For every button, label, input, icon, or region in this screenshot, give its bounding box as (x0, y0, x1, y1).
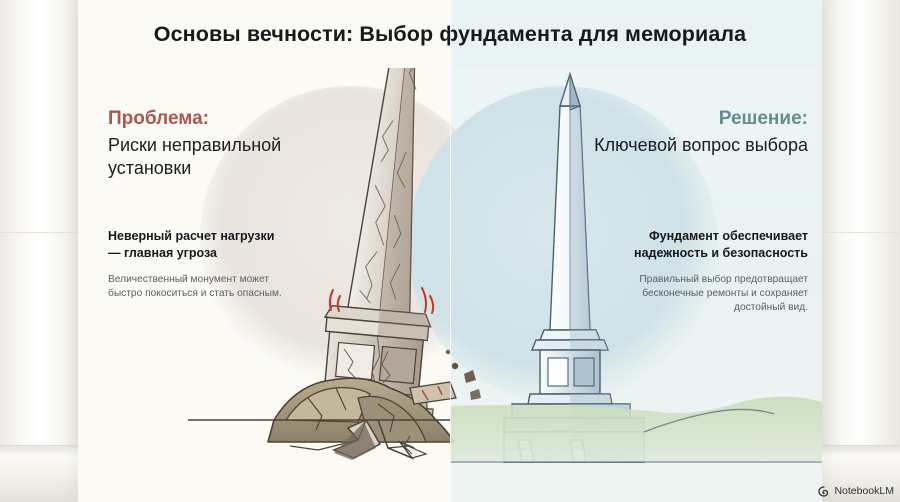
notebooklm-spiral-icon (818, 486, 830, 497)
right-kicker-solution: Решение: (560, 108, 808, 131)
left-kicker-problem: Проблема: (108, 108, 340, 131)
left-detail-body: Величественный монумент может быстро пок… (108, 273, 288, 301)
right-detail-body: Правильный выбор предотвращает бесконечн… (608, 273, 808, 315)
backdrop-right-seam (818, 232, 900, 233)
notebooklm-watermark: NotebookLM (818, 485, 894, 497)
watermark-label: NotebookLM (834, 485, 894, 497)
backdrop-right-column (818, 0, 900, 502)
left-heading-block: Проблема: Риски неправильной установки (108, 108, 340, 180)
left-detail-block: Неверный расчет нагрузки — главная угроз… (108, 228, 288, 301)
backdrop-left-seam (0, 232, 86, 233)
right-detail-title: Фундамент обеспечивает надежность и безо… (608, 228, 808, 261)
panel-divider (450, 0, 451, 502)
backdrop-left-plinth (0, 445, 86, 502)
left-headline: Риски неправильной установки (108, 134, 340, 180)
infographic-card: Основы вечности: Выбор фундамента для ме… (78, 0, 822, 502)
right-headline: Ключевой вопрос выбора (560, 134, 808, 157)
left-detail-title: Неверный расчет нагрузки — главная угроз… (108, 228, 288, 261)
backdrop-left-column (0, 0, 86, 502)
right-detail-block: Фундамент обеспечивает надежность и безо… (608, 228, 808, 315)
right-heading-block: Решение: Ключевой вопрос выбора (560, 108, 808, 157)
